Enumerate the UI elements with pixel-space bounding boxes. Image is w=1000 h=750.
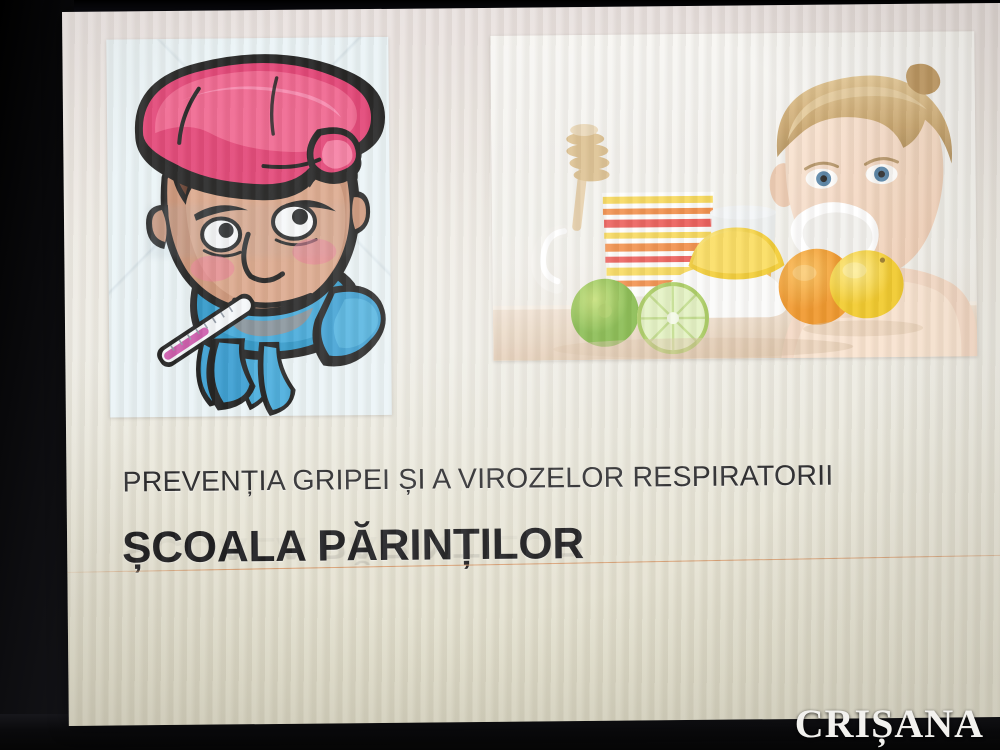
- presentation-slide: PREVENȚIA GRIPEI ȘI A VIROZELOR RESPIRAT…: [62, 3, 1000, 726]
- boy-with-tissue-photo: [490, 31, 977, 361]
- sick-man-cartoon-image: [106, 37, 392, 418]
- page-title: ȘCOALA PĂRINȚILOR: [122, 515, 982, 573]
- crisana-watermark: CRIȘANA: [795, 704, 984, 744]
- slide-subtitle: PREVENȚIA GRIPEI ȘI A VIROZELOR RESPIRAT…: [122, 458, 982, 499]
- stock-watermark-blur: [147, 204, 351, 259]
- photo-of-projected-slide: PREVENȚIA GRIPEI ȘI A VIROZELOR RESPIRAT…: [0, 0, 1000, 750]
- boy-with-tissue-illustration: [490, 31, 977, 361]
